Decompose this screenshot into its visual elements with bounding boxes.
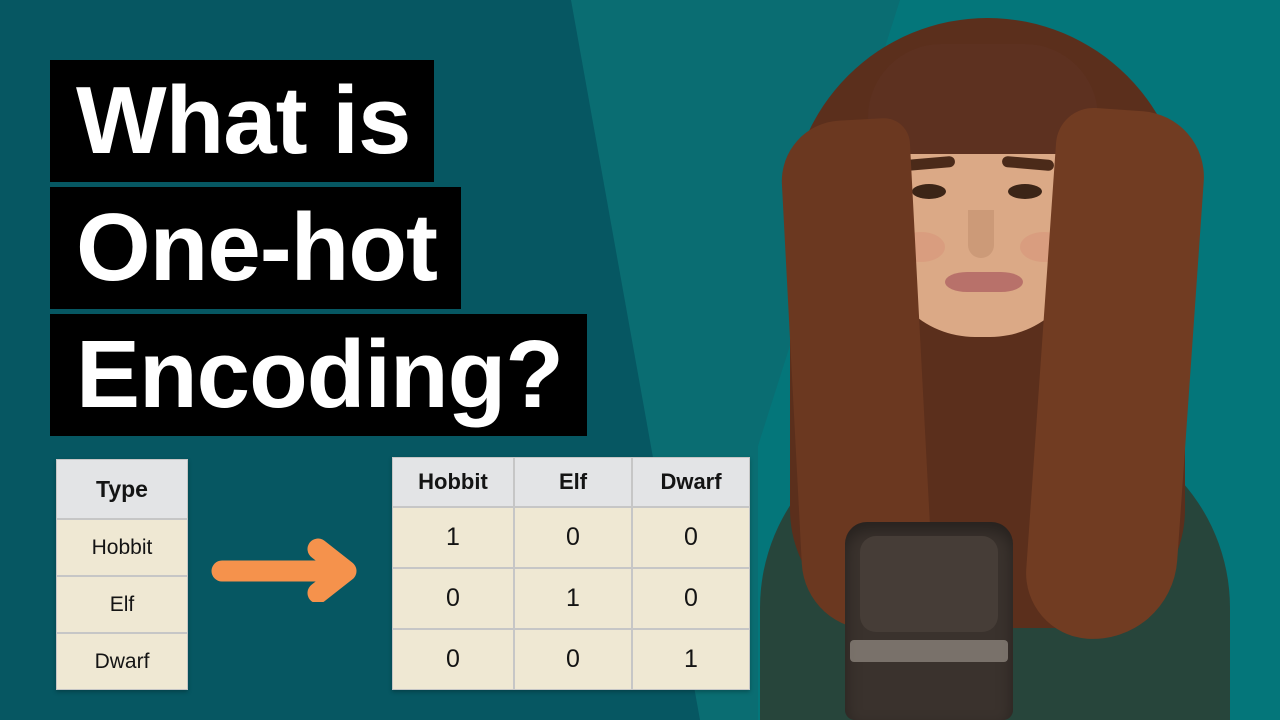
presenter-eye-left	[912, 184, 946, 199]
cell-r1-elf: 1	[514, 568, 632, 629]
column-header-type: Type	[56, 459, 188, 519]
table-header-row: Hobbit Elf Dwarf	[392, 457, 750, 507]
cell-r1-hobbit: 0	[392, 568, 514, 629]
table-row: Elf	[56, 576, 188, 633]
table-row: 0 0 1	[392, 629, 750, 690]
column-header-hobbit: Hobbit	[392, 457, 514, 507]
cell-r1-dwarf: 0	[632, 568, 750, 629]
thumbnail-canvas: What is One-hot Encoding? Type Hobbit El…	[0, 0, 1280, 720]
column-header-elf: Elf	[514, 457, 632, 507]
table-row: 1 0 0	[392, 507, 750, 568]
one-hot-encoded-table: Hobbit Elf Dwarf 1 0 0 0 1 0 0 0 1	[392, 457, 750, 690]
cell-type-hobbit: Hobbit	[56, 519, 188, 576]
cell-r0-hobbit: 1	[392, 507, 514, 568]
table-row: Dwarf	[56, 633, 188, 690]
cell-r2-elf: 0	[514, 629, 632, 690]
table-header-row: Type	[56, 459, 188, 519]
cell-type-dwarf: Dwarf	[56, 633, 188, 690]
cell-type-elf: Elf	[56, 576, 188, 633]
microphone-grille	[860, 536, 998, 632]
categorical-input-table: Type Hobbit Elf Dwarf	[56, 459, 188, 690]
table-row: Hobbit	[56, 519, 188, 576]
microphone-band	[850, 640, 1008, 662]
cell-r0-dwarf: 0	[632, 507, 750, 568]
presenter-eye-right	[1008, 184, 1042, 199]
presenter-nose	[968, 210, 994, 258]
title-line-2: One-hot	[50, 187, 461, 309]
column-header-dwarf: Dwarf	[632, 457, 750, 507]
title-line-3: Encoding?	[50, 314, 587, 436]
table-row: 0 1 0	[392, 568, 750, 629]
presenter-photo	[740, 0, 1280, 720]
cell-r0-elf: 0	[514, 507, 632, 568]
title-block: What is One-hot Encoding?	[50, 60, 587, 436]
presenter-mouth	[945, 272, 1023, 292]
arrow-right-icon	[210, 538, 370, 602]
cell-r2-dwarf: 1	[632, 629, 750, 690]
title-line-1: What is	[50, 60, 434, 182]
cell-r2-hobbit: 0	[392, 629, 514, 690]
